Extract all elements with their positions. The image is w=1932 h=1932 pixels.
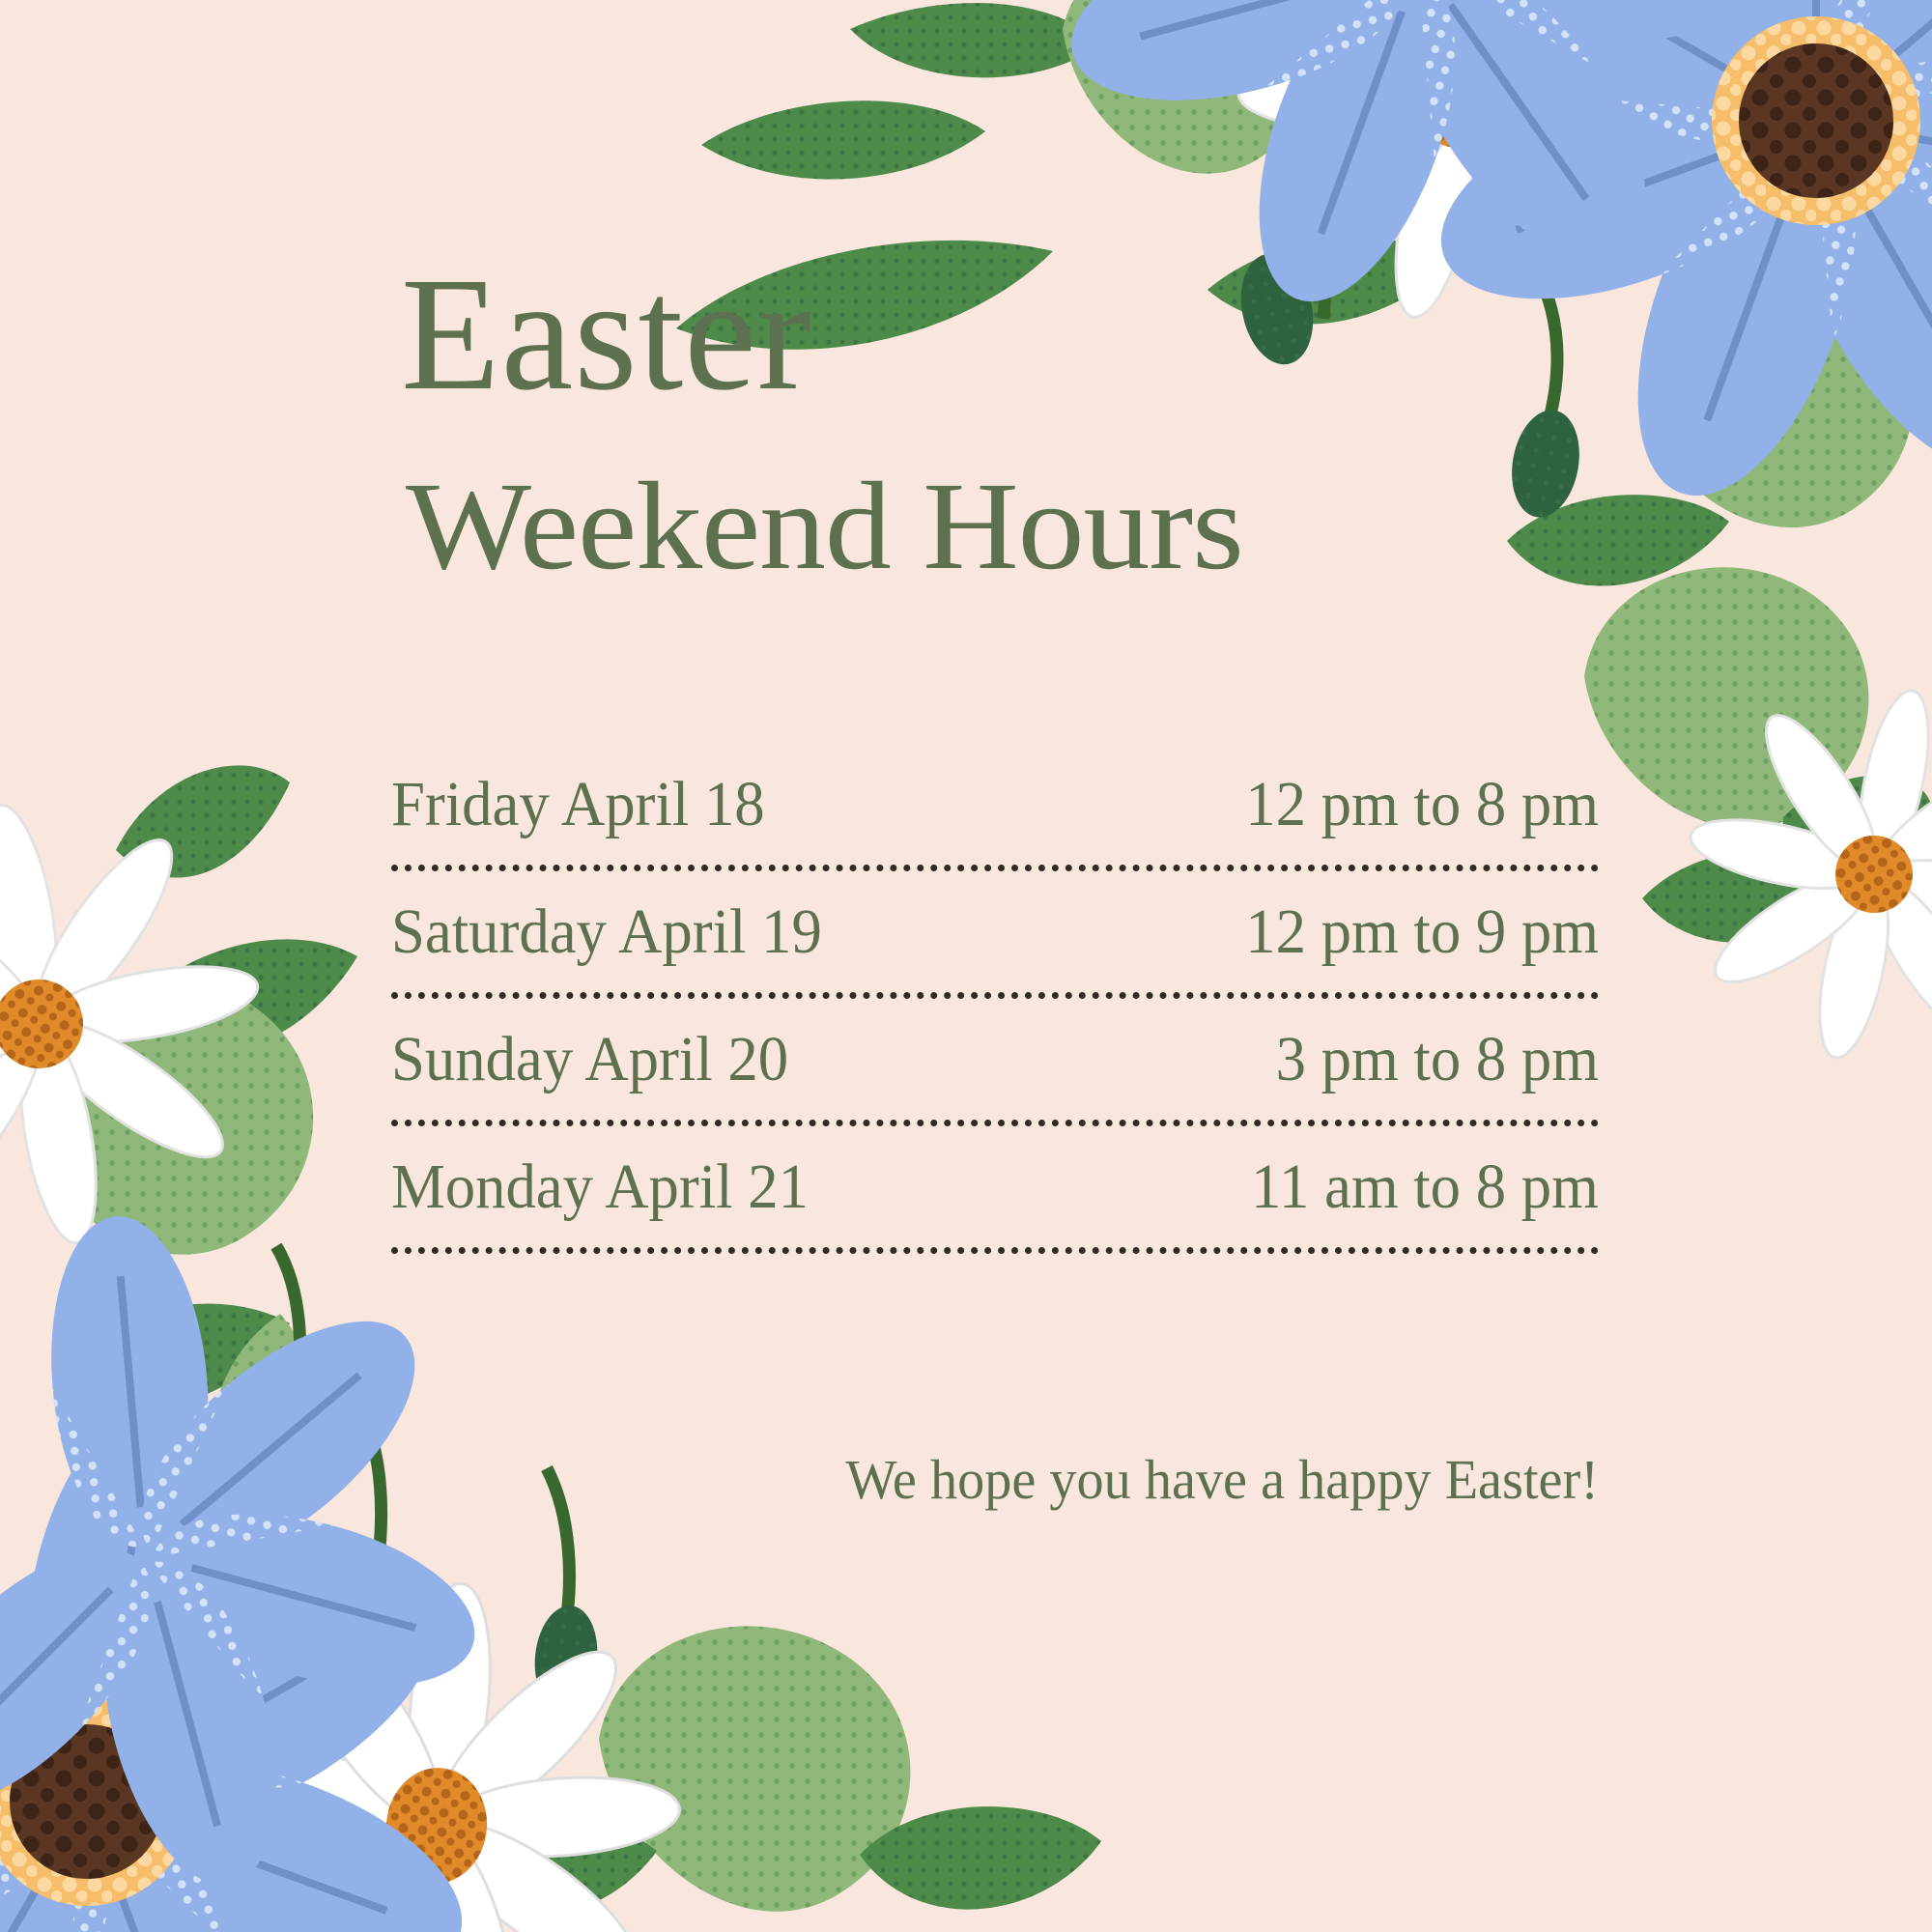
table-row: Saturday April 19 12 pm to 9 pm: [391, 871, 1599, 992]
row-divider: [391, 1247, 1599, 1254]
schedule-hours-value: 12 pm to 9 pm: [1245, 871, 1599, 992]
schedule-hours-value: 3 pm to 8 pm: [1276, 999, 1599, 1120]
schedule-day-label: Saturday April 19: [391, 871, 822, 992]
poster-content: Easter Weekend Hours Friday April 18 12 …: [0, 0, 1932, 1932]
hours-table: Friday April 18 12 pm to 8 pm Saturday A…: [391, 744, 1599, 1254]
page-subtitle: Weekend Hours: [406, 464, 1243, 589]
table-row: Friday April 18 12 pm to 8 pm: [391, 744, 1599, 865]
page-title: Easter: [401, 253, 812, 415]
schedule-hours-value: 11 am to 8 pm: [1251, 1126, 1599, 1247]
schedule-day-label: Sunday April 20: [391, 999, 788, 1120]
schedule-day-label: Monday April 21: [391, 1126, 809, 1247]
table-row: Sunday April 20 3 pm to 8 pm: [391, 999, 1599, 1120]
table-row: Monday April 21 11 am to 8 pm: [391, 1126, 1599, 1247]
poster-canvas: Easter Weekend Hours Friday April 18 12 …: [0, 0, 1932, 1932]
closing-message: We hope you have a happy Easter!: [428, 1449, 1600, 1511]
schedule-day-label: Friday April 18: [391, 744, 765, 865]
schedule-hours-value: 12 pm to 8 pm: [1245, 744, 1599, 865]
row-divider: [391, 865, 1599, 871]
row-divider: [391, 1120, 1599, 1126]
row-divider: [391, 992, 1599, 999]
